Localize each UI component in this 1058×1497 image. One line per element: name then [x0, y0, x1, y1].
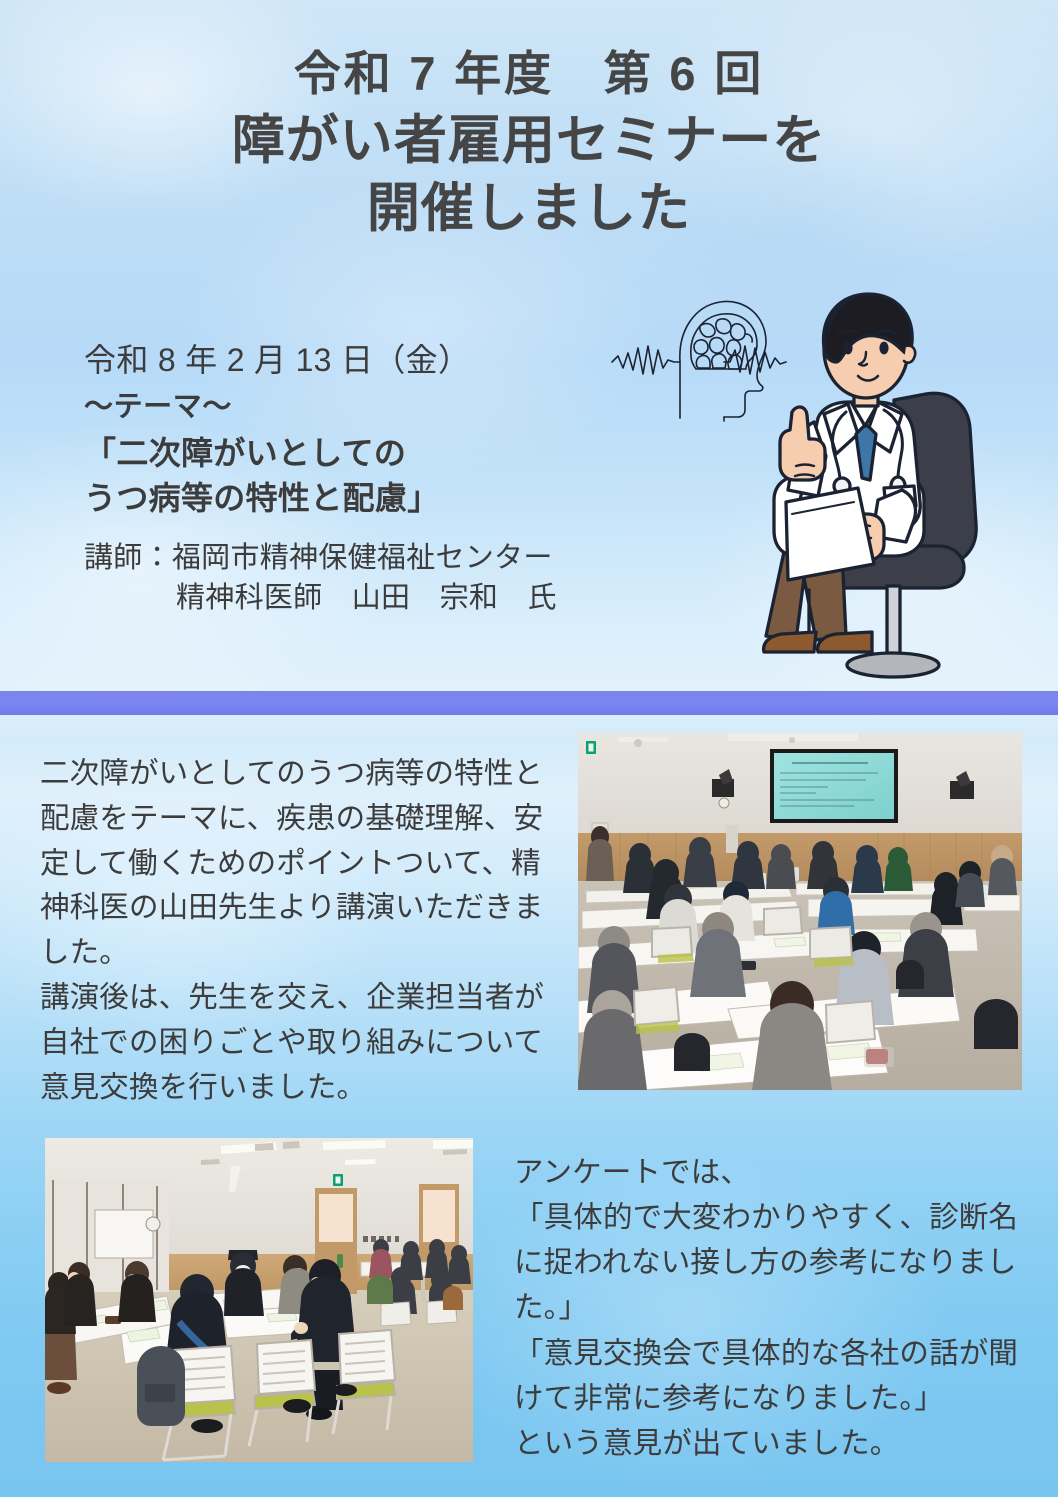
- section-divider: [0, 691, 1058, 715]
- survey-quote-1: 「具体的で大変わかりやすく、診断名に捉われない接し方の参考になりました。」: [514, 1195, 1034, 1330]
- lecturer-name: 精神科医師 山田 宗和 氏: [84, 578, 557, 618]
- group-discussion-photo: [45, 1138, 473, 1462]
- page-title-line-1: 令和 7 年度 第 6 回: [0, 46, 1058, 101]
- report-body-text: 二次障がいとしてのうつ病等の特性と配慮をテーマに、疾患の基礎理解、安定して働くた…: [40, 752, 550, 1111]
- page-title-line-3: 開催しました: [0, 175, 1058, 243]
- event-date: 令和 8 年 2 月 13 日（金）: [84, 340, 557, 381]
- theme-title-line-2: うつ病等の特性と配慮」: [84, 476, 557, 521]
- survey-results-text: アンケートでは、 「具体的で大変わかりやすく、診断名に捉われない接し方の参考にな…: [514, 1150, 1034, 1466]
- report-paragraph-1: 二次障がいとしてのうつ病等の特性と配慮をテーマに、疾患の基礎理解、安定して働くた…: [40, 752, 550, 976]
- brainwave-head-icon: [612, 301, 786, 421]
- event-details: 令和 8 年 2 月 13 日（金） 〜テーマ〜 「二次障がいとしての うつ病等…: [84, 340, 557, 618]
- survey-intro: アンケートでは、: [514, 1150, 1034, 1195]
- seminar-lecture-room-photo: [578, 733, 1022, 1090]
- theme-label: 〜テーマ〜: [84, 389, 557, 427]
- survey-quote-2: 「意見交換会で具体的な各社の話が聞けて非常に参考になりました。」: [514, 1331, 1034, 1421]
- theme-title-line-1: 「二次障がいとしての: [84, 431, 557, 476]
- survey-closing: という意見が出ていました。: [514, 1421, 1034, 1466]
- lecturer-organization: 講師：福岡市精神保健福祉センター: [84, 538, 557, 578]
- page-title: 令和 7 年度 第 6 回 障がい者雇用セミナーを 開催しました: [0, 46, 1058, 243]
- poster-canvas: 令和 7 年度 第 6 回 障がい者雇用セミナーを 開催しました 令和 8 年 …: [0, 0, 1058, 1497]
- doctor-illustration: [596, 290, 1038, 690]
- page-title-line-2: 障がい者雇用セミナーを: [0, 107, 1058, 175]
- report-paragraph-2: 講演後は、先生を交え、企業担当者が自社での困りごとや取り組みについて意見交換を行…: [40, 976, 550, 1110]
